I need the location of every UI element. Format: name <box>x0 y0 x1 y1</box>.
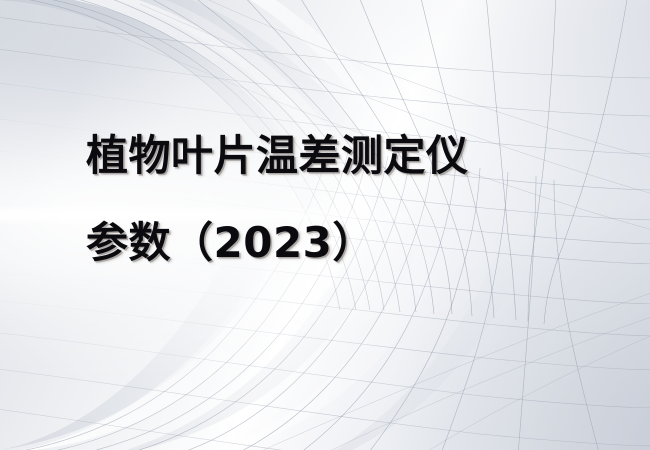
slide-canvas: 植物叶片温差测定仪 参数（2023） <box>0 0 650 450</box>
title-line-2: 参数（2023） <box>86 221 606 265</box>
slide-title: 植物叶片温差测定仪 参数（2023） <box>86 134 606 265</box>
title-line-1: 植物叶片温差测定仪 <box>86 134 606 178</box>
